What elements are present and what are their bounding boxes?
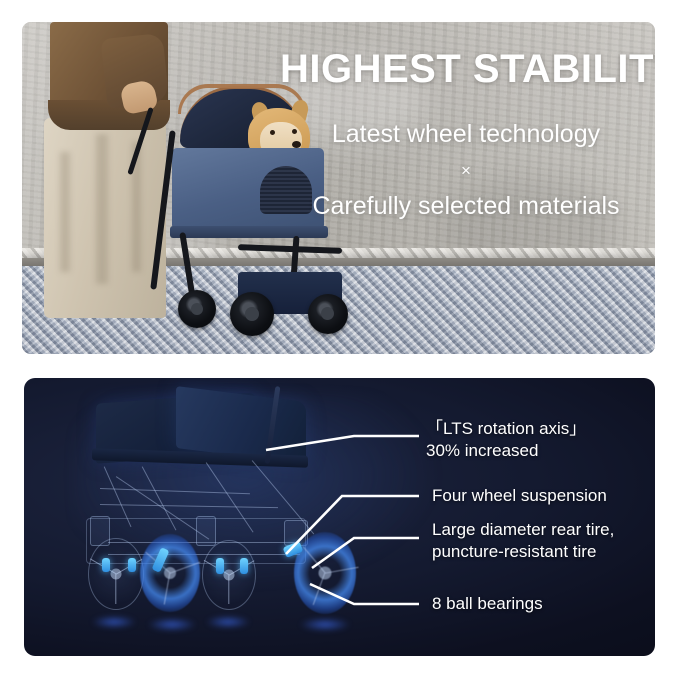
dog-eye bbox=[270, 130, 275, 135]
pants-fold bbox=[96, 134, 108, 284]
wheel-hub bbox=[321, 307, 334, 320]
carrier-bottom-trim bbox=[170, 226, 328, 238]
leader-line-bearings bbox=[310, 584, 419, 604]
pants-fold bbox=[60, 152, 70, 272]
callout-lts-rotation-axis: 「LTS rotation axis」 30% increased bbox=[426, 418, 586, 462]
headline-text: HIGHEST STABILITY bbox=[280, 48, 652, 90]
callout-line-2: 30% increased bbox=[426, 440, 586, 462]
subheadline-separator: × bbox=[280, 160, 652, 182]
wheel-hub bbox=[245, 307, 259, 321]
callout-line-1: Four wheel suspension bbox=[432, 485, 607, 507]
bottom-panel-feature-diagram: 「LTS rotation axis」 30% increased Four w… bbox=[24, 378, 655, 656]
stroller-frame-bar bbox=[238, 244, 342, 254]
leader-line-rear-tire bbox=[312, 538, 419, 568]
subheadline-line-2: Carefully selected materials bbox=[280, 188, 652, 226]
callout-large-diameter-rear-tire: Large diameter rear tire, puncture-resis… bbox=[432, 519, 614, 563]
callout-line-1: 「LTS rotation axis」 bbox=[426, 418, 586, 440]
wheel-hub bbox=[191, 303, 203, 315]
marketing-image: HIGHEST STABILITY Latest wheel technolog… bbox=[0, 0, 679, 679]
top-panel-lifestyle-photo: HIGHEST STABILITY Latest wheel technolog… bbox=[22, 22, 655, 354]
leader-line-lts bbox=[266, 436, 419, 450]
callout-line-1: Large diameter rear tire, bbox=[432, 519, 614, 541]
callout-line-2: puncture-resistant tire bbox=[432, 541, 614, 563]
callout-ball-bearings: 8 ball bearings bbox=[432, 593, 543, 615]
headline-block: HIGHEST STABILITY Latest wheel technolog… bbox=[280, 48, 652, 225]
callout-line-1: 8 ball bearings bbox=[432, 593, 543, 615]
leader-line-suspension bbox=[286, 496, 419, 554]
subheadline-line-1: Latest wheel technology bbox=[280, 116, 652, 154]
callout-four-wheel-suspension: Four wheel suspension bbox=[432, 485, 607, 507]
